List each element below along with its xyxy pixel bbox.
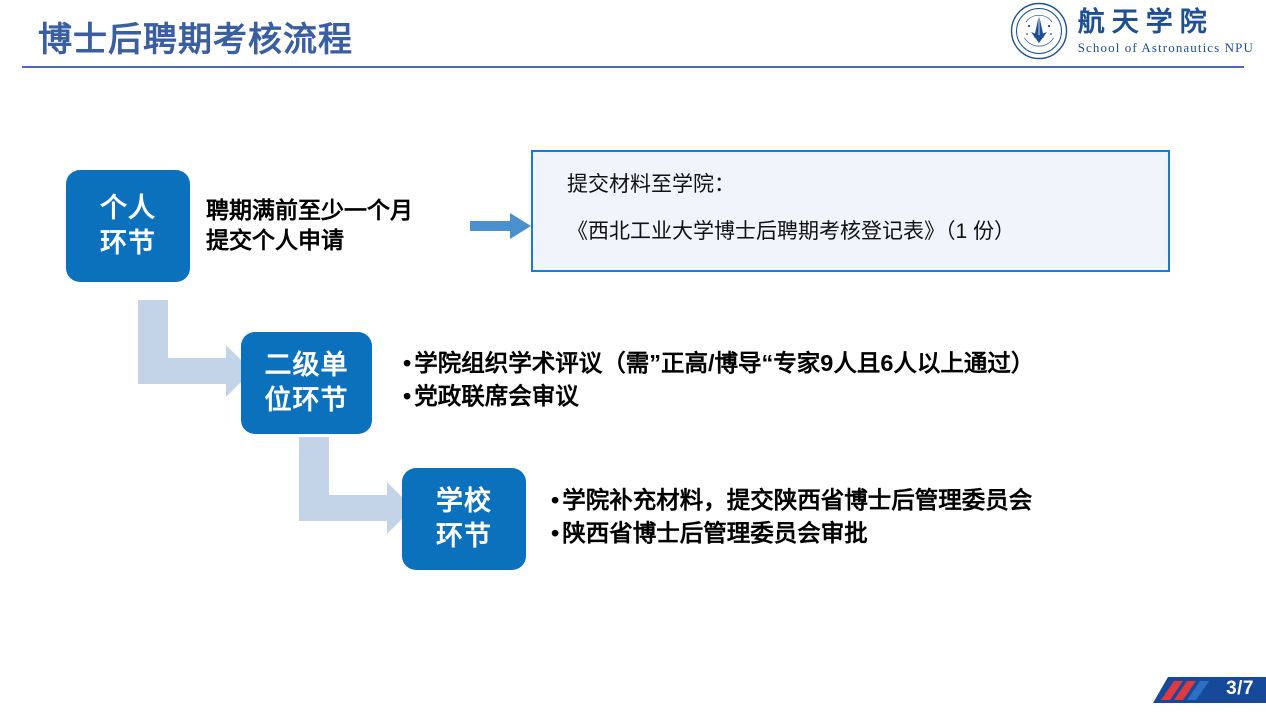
stage-box-personal: 个人 环节 — [66, 170, 190, 282]
logo-wordmark: 航天学院 School of Astronautics NPU — [1078, 9, 1254, 54]
bullet-dot-icon: • — [403, 383, 411, 409]
slide-header: 博士后聘期考核流程 航天学院 School of — [0, 0, 1266, 70]
bullet-dot-icon: • — [403, 350, 411, 376]
list-item-label: 党政联席会审议 — [414, 383, 579, 409]
bullet-dot-icon: • — [551, 520, 559, 546]
list-item: •陕西省博士后管理委员会审批 — [551, 517, 1032, 550]
personal-stage-note: 聘期满前至少一个月 提交个人申请 — [206, 195, 413, 256]
stage-label-line2: 环节 — [100, 226, 156, 261]
page-number-badge: 3/7 — [1140, 675, 1266, 705]
bullet-dot-icon: • — [551, 487, 559, 513]
logo-english-name: School of Astronautics NPU — [1078, 41, 1254, 54]
header-divider — [22, 66, 1244, 68]
institution-logo: 航天学院 School of Astronautics NPU — [1010, 2, 1254, 60]
university-seal-icon — [1010, 2, 1068, 60]
list-item-label: 陕西省博士后管理委员会审批 — [562, 520, 868, 546]
page-title: 博士后聘期考核流程 — [38, 12, 353, 61]
elbow-arrow-down-right-icon — [138, 300, 253, 398]
stage-label-line1: 二级单 — [265, 348, 349, 383]
materials-panel-line1: 提交材料至学院： — [567, 174, 1138, 195]
stage-label-line2: 环节 — [436, 519, 492, 554]
list-item: •学院组织学术评议（需”正高/博导“专家9人且6人以上通过） — [403, 347, 1034, 380]
school-stage-bullets: •学院补充材料，提交陕西省博士后管理委员会 •陕西省博士后管理委员会审批 — [551, 484, 1032, 551]
unit-stage-bullets: •学院组织学术评议（需”正高/博导“专家9人且6人以上通过） •党政联席会审议 — [403, 347, 1034, 414]
personal-note-line2: 提交个人申请 — [206, 225, 413, 255]
personal-note-line1: 聘期满前至少一个月 — [206, 195, 413, 225]
stage-box-unit: 二级单 位环节 — [241, 332, 372, 434]
stage-label-line1: 学校 — [436, 484, 492, 519]
materials-panel-line2: 《西北工业大学博士后聘期考核登记表》（1 份） — [567, 221, 1138, 242]
stage-label-line1: 个人 — [100, 191, 156, 226]
stage-box-school: 学校 环节 — [402, 468, 526, 570]
arrow-right-icon — [470, 212, 532, 240]
list-item-label: 学院补充材料，提交陕西省博士后管理委员会 — [562, 487, 1032, 513]
elbow-arrow-down-right-icon — [299, 437, 414, 535]
stage-label-line2: 位环节 — [265, 383, 349, 418]
list-item: •党政联席会审议 — [403, 380, 1034, 413]
materials-panel: 提交材料至学院： 《西北工业大学博士后聘期考核登记表》（1 份） — [531, 150, 1170, 272]
list-item-label: 学院组织学术评议（需”正高/博导“专家9人且6人以上通过） — [414, 350, 1034, 376]
page-number-label: 3/7 — [1226, 678, 1254, 700]
list-item: •学院补充材料，提交陕西省博士后管理委员会 — [551, 484, 1032, 517]
logo-chinese-name: 航天学院 — [1078, 9, 1254, 36]
